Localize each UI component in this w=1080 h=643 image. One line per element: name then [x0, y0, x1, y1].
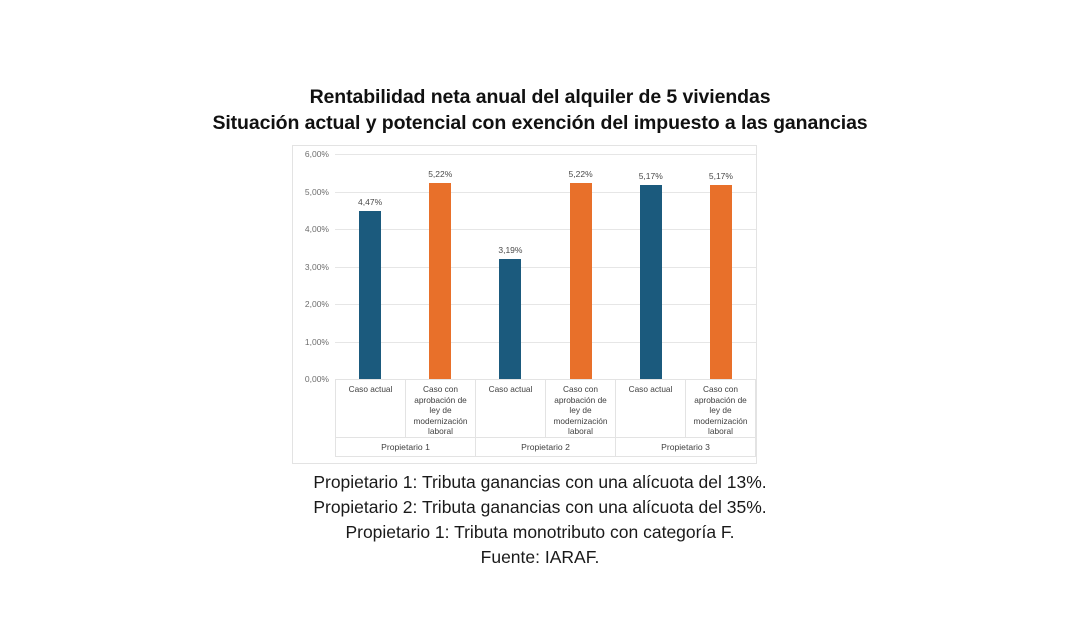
y-axis-tick-label: 6,00%: [305, 149, 329, 159]
group-label: Propietario 1: [336, 438, 475, 457]
gridline: [335, 267, 756, 268]
y-axis-tick-label: 4,00%: [305, 224, 329, 234]
y-axis-tick-label: 0,00%: [305, 374, 329, 384]
footnote-line: Propietario 2: Tributa ganancias con una…: [0, 495, 1080, 520]
plot-area: 0,00%1,00%2,00%3,00%4,00%5,00%6,00%4,47%…: [335, 154, 756, 379]
group-label-row: Propietario 1Propietario 2Propietario 3: [336, 438, 755, 457]
group-label: Propietario 2: [475, 438, 615, 457]
chart-title-line-1: Rentabilidad neta anual del alquiler de …: [0, 84, 1080, 110]
category-label-row: Caso actualCaso con aprobación de ley de…: [336, 380, 755, 438]
category-axis-table: Caso actualCaso con aprobación de ley de…: [335, 379, 756, 457]
category-label: Caso con aprobación de ley de modernizac…: [405, 380, 475, 437]
category-label: Caso actual: [615, 380, 685, 437]
bar-value-label: 5,22%: [569, 169, 593, 179]
bar-value-label: 4,47%: [358, 197, 382, 207]
gridline: [335, 192, 756, 193]
footnote-line: Propietario 1: Tributa monotributo con c…: [0, 520, 1080, 545]
gridline: [335, 154, 756, 155]
bar[interactable]: [570, 183, 592, 379]
category-label: Caso con aprobación de ley de modernizac…: [685, 380, 755, 437]
bar-value-label: 5,22%: [428, 169, 452, 179]
y-axis-tick-label: 1,00%: [305, 337, 329, 347]
group-label: Propietario 3: [615, 438, 755, 457]
y-axis-tick-label: 5,00%: [305, 187, 329, 197]
gridline: [335, 342, 756, 343]
bar[interactable]: [359, 211, 381, 379]
y-axis-tick-label: 3,00%: [305, 262, 329, 272]
y-axis-tick-label: 2,00%: [305, 299, 329, 309]
bar-value-label: 3,19%: [498, 245, 522, 255]
chart-title-block: Rentabilidad neta anual del alquiler de …: [0, 84, 1080, 136]
bar[interactable]: [429, 183, 451, 379]
footnote-line: Fuente: IARAF.: [0, 545, 1080, 570]
bar-value-label: 5,17%: [639, 171, 663, 181]
bar-value-label: 5,17%: [709, 171, 733, 181]
bar[interactable]: [499, 259, 521, 379]
chart-frame: 0,00%1,00%2,00%3,00%4,00%5,00%6,00%4,47%…: [292, 145, 757, 464]
bar[interactable]: [640, 185, 662, 379]
chart-title-line-2: Situación actual y potencial con exenció…: [0, 110, 1080, 136]
category-label: Caso con aprobación de ley de modernizac…: [545, 380, 615, 437]
bar[interactable]: [710, 185, 732, 379]
category-label: Caso actual: [475, 380, 545, 437]
gridline: [335, 304, 756, 305]
gridline: [335, 229, 756, 230]
category-label: Caso actual: [336, 380, 405, 437]
footnote-block: Propietario 1: Tributa ganancias con una…: [0, 470, 1080, 570]
footnote-line: Propietario 1: Tributa ganancias con una…: [0, 470, 1080, 495]
